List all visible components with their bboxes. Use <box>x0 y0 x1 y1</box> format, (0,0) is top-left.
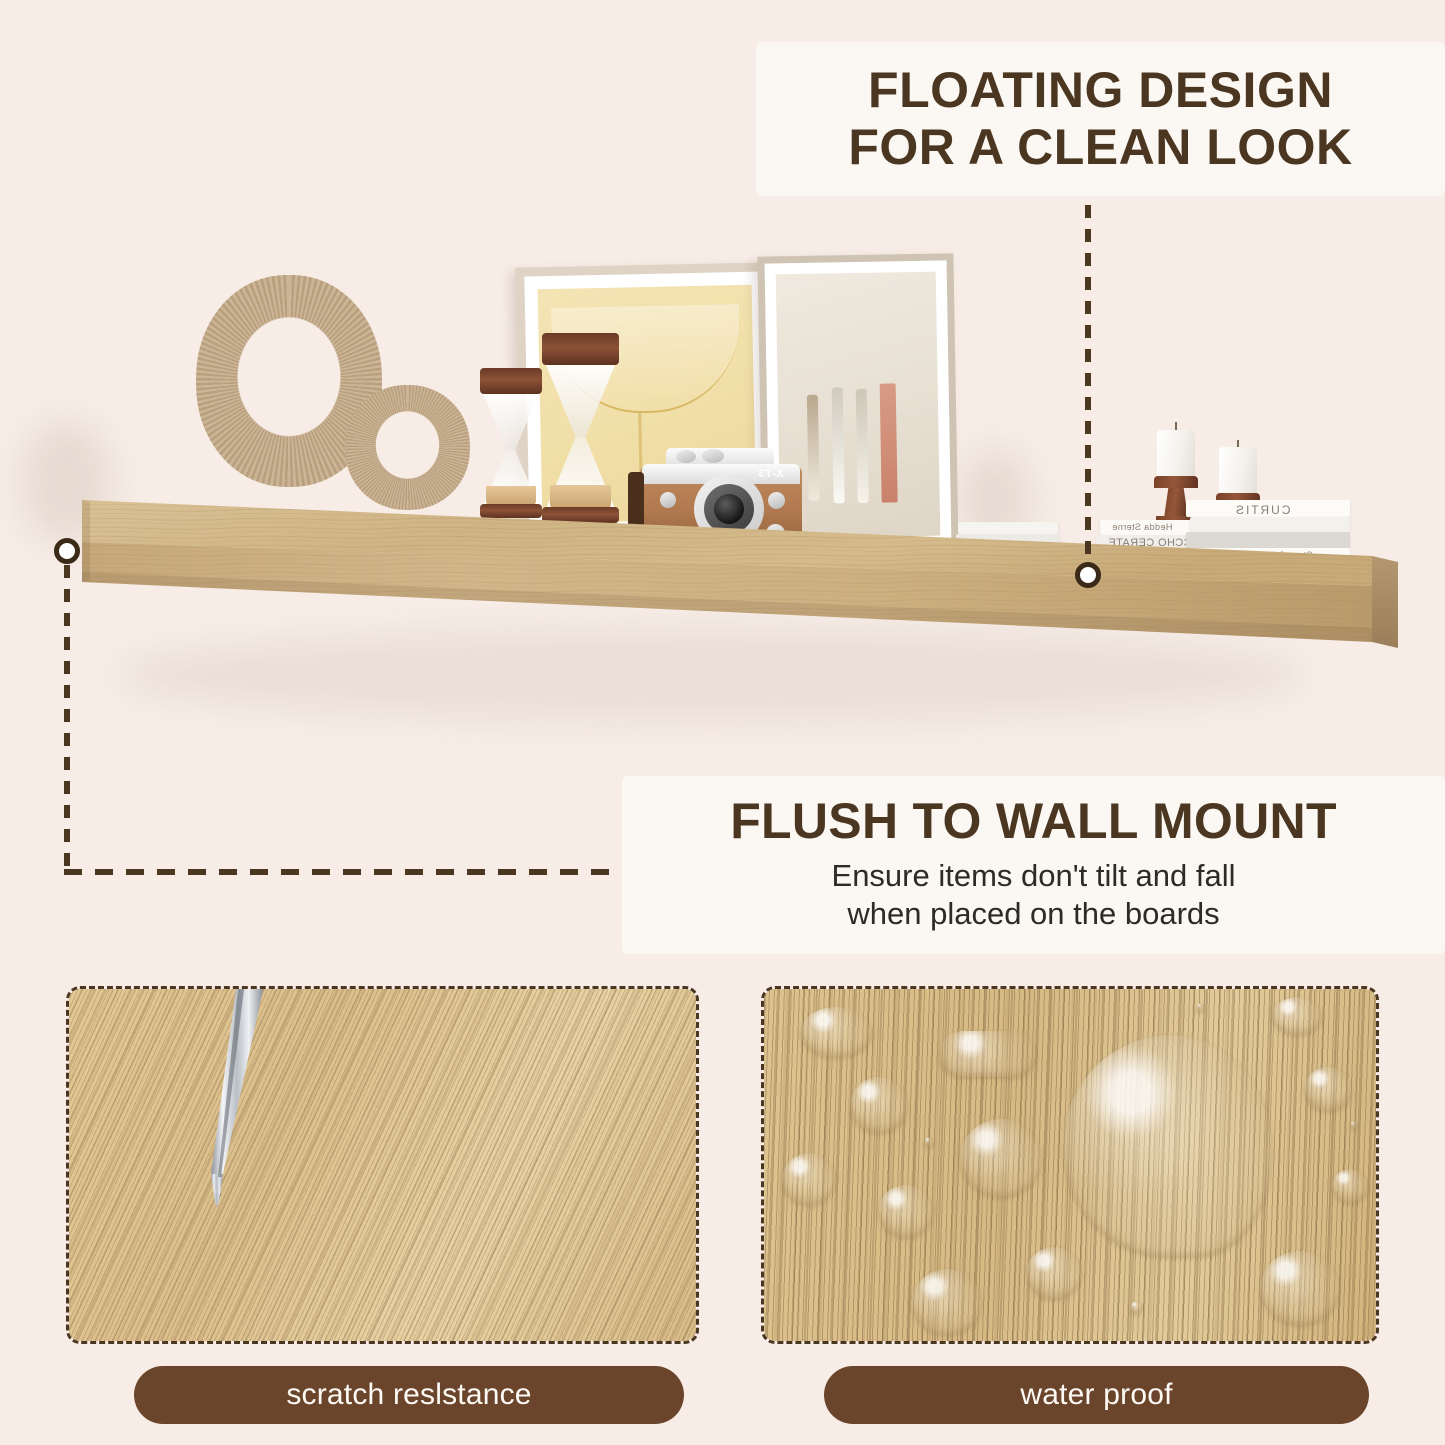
water-droplet <box>1304 1067 1352 1111</box>
water-droplet <box>1332 1169 1368 1203</box>
water-droplet-tiny <box>924 1137 934 1147</box>
feature-label-scratch: scratch reslstance <box>134 1366 684 1424</box>
marker-dot-shelf-left <box>54 538 80 564</box>
feature-panel-water <box>761 986 1379 1344</box>
callout-floating-design: FLOATING DESIGN FOR A CLEAN LOOK <box>756 42 1445 196</box>
water-droplet <box>939 1031 1037 1077</box>
screwdriver-icon <box>69 989 699 1344</box>
water-droplet-tiny <box>1350 1121 1358 1129</box>
callout-top-line1: FLOATING DESIGN <box>868 62 1333 119</box>
feature-panel-scratch <box>66 986 699 1344</box>
water-droplet <box>1272 997 1322 1035</box>
water-droplet <box>1260 1251 1340 1325</box>
water-droplet <box>878 1185 934 1237</box>
callout-top-line2: FOR A CLEAN LOOK <box>848 119 1352 176</box>
water-droplet <box>960 1119 1042 1197</box>
water-droplet-tiny <box>1196 1003 1205 1012</box>
leader-line-left-vertical <box>64 565 70 875</box>
callout-bottom-sub1: Ensure items don't tilt and fall <box>832 857 1236 894</box>
callout-flush-mount: FLUSH TO WALL MOUNT Ensure items don't t… <box>622 776 1445 954</box>
water-droplet <box>912 1269 982 1335</box>
marker-dot-shelf-right <box>1075 562 1101 588</box>
water-droplet-large <box>1064 1035 1272 1257</box>
callout-bottom-title: FLUSH TO WALL MOUNT <box>730 794 1337 849</box>
leader-line-left-horizontal <box>64 869 624 875</box>
water-droplet <box>850 1077 908 1133</box>
callout-bottom-sub2: when placed on the boards <box>847 895 1219 932</box>
water-droplet-tiny <box>1130 1301 1143 1314</box>
leader-line-top <box>1085 205 1091 573</box>
water-droplet <box>782 1153 836 1205</box>
floating-shelf-board <box>60 490 1405 690</box>
feature-label-water: water proof <box>824 1366 1369 1424</box>
camera-model-label: X-T3 <box>758 468 784 480</box>
water-droplet <box>800 1007 872 1057</box>
infographic-stage: X-T3 Hedda Sterne <box>0 0 1445 1445</box>
water-droplet <box>1026 1247 1082 1299</box>
